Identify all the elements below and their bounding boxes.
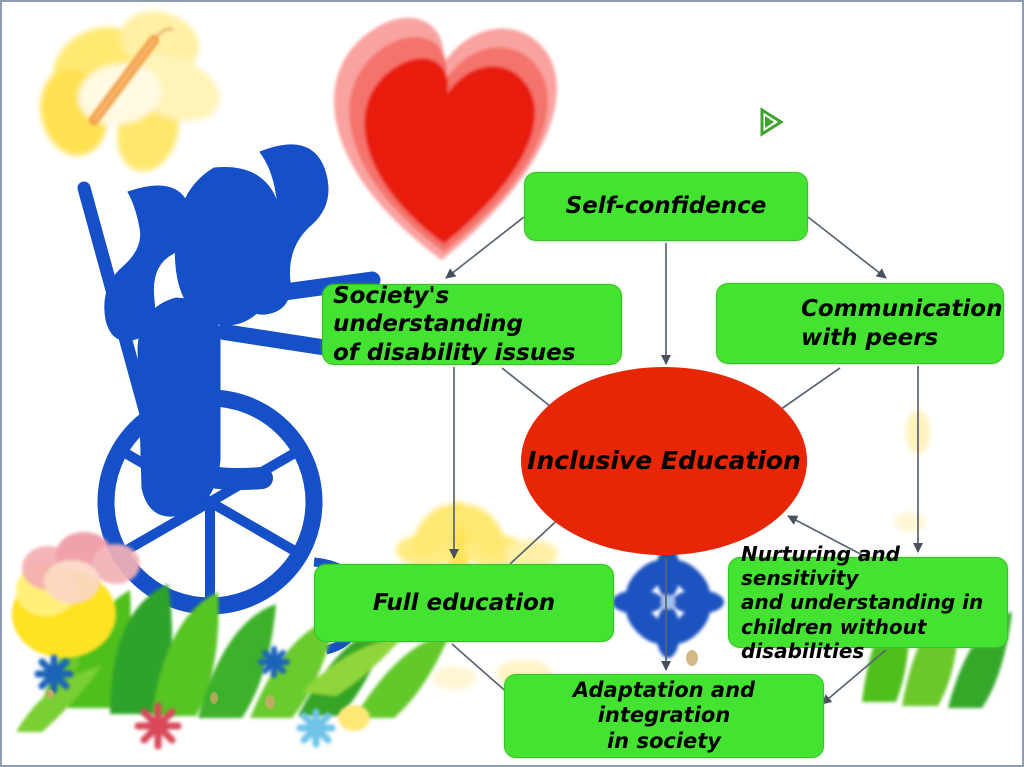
node-label: Communication with peers	[727, 295, 993, 351]
center-label: Inclusive Education	[527, 446, 801, 477]
node-label: Self-confidence	[566, 192, 767, 220]
node-label-line1: Adaptation and integration	[573, 678, 755, 728]
node-label: Full education	[373, 589, 555, 617]
node-label-line2: of disability issues	[333, 340, 575, 366]
node-nurturing-sensitivity[interactable]: Nurturing and sensitivity and understand…	[728, 557, 1008, 648]
node-label: Nurturing and sensitivity and understand…	[741, 542, 997, 664]
node-self-confidence[interactable]: Self-confidence	[524, 172, 808, 241]
node-communication-with-peers[interactable]: Communication with peers	[716, 283, 1004, 364]
node-society-understanding[interactable]: Society's understanding of disability is…	[322, 284, 622, 365]
node-label: Adaptation and integration in society	[515, 678, 813, 755]
node-adaptation-integration[interactable]: Adaptation and integration in society	[504, 674, 824, 758]
node-label-line2: and understanding in	[741, 590, 983, 614]
node-label-line2: in society	[607, 729, 721, 753]
node-inclusive-education-center[interactable]: Inclusive Education	[521, 367, 807, 555]
node-full-education[interactable]: Full education	[314, 564, 614, 642]
node-label-line3: children without disabilities	[741, 615, 926, 663]
node-label-line1: Communication	[801, 296, 1002, 322]
slide-canvas: Self-confidence Society's understanding …	[0, 0, 1024, 767]
node-label-line1: Society's understanding	[333, 283, 523, 337]
node-label: Society's understanding of disability is…	[333, 282, 611, 366]
node-label-line1: Nurturing and sensitivity	[741, 542, 900, 590]
node-label-line2: with peers	[801, 325, 938, 351]
